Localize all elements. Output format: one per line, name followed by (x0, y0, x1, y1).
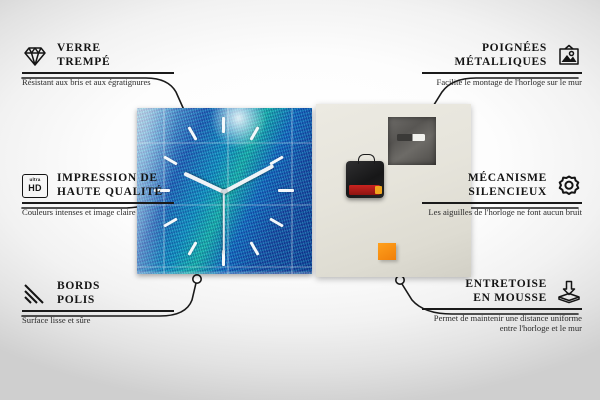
feature-verre-trempe: VERRE TREMPÉ Résistant aux bris et aux é… (22, 42, 174, 87)
clock-center-cap (222, 189, 227, 194)
feature-title: ENTRETOISE EN MOUSSE (465, 278, 547, 305)
mechanism-hook-icon (358, 154, 375, 164)
metal-hanger-plate (388, 117, 436, 165)
feature-entretoise-mousse: ENTRETOISE EN MOUSSE Permet de maintenir… (422, 278, 582, 333)
feature-divider (422, 308, 582, 310)
feature-title: IMPRESSION DE HAUTE QUALITÉ (57, 172, 163, 199)
feature-divider (22, 202, 174, 204)
hanger-slot (397, 134, 425, 141)
feature-title: BORDS POLIS (57, 280, 100, 307)
feature-subtitle: Résistant aux bris et aux égratignures (22, 77, 174, 87)
feature-title: POIGNÉES MÉTALLIQUES (455, 42, 547, 69)
feature-subtitle: Couleurs intenses et image claire (22, 207, 174, 217)
polished-edge-icon (22, 282, 48, 306)
connector-dot-bords (193, 275, 201, 283)
feature-subtitle: Permet de maintenir une distance uniform… (422, 313, 582, 334)
hour-tick (222, 117, 225, 133)
clock-mechanism (346, 161, 384, 198)
feature-divider (22, 72, 174, 74)
feature-subtitle: Les aiguilles de l'horloge ne font aucun… (422, 207, 582, 217)
feature-divider (22, 310, 174, 312)
foam-spacer (378, 243, 396, 260)
feature-subtitle: Surface lisse et sûre (22, 315, 174, 325)
feature-title: VERRE TREMPÉ (57, 42, 110, 69)
feature-bords-polis: BORDS POLIS Surface lisse et sûre (22, 280, 174, 325)
feature-divider (422, 72, 582, 74)
connector-dot-entretoise (396, 276, 404, 284)
hour-tick (278, 189, 294, 192)
gear-icon (556, 174, 582, 198)
clock-second-hand (223, 192, 225, 254)
feature-impression-hd: ultra HD IMPRESSION DE HAUTE QUALITÉ Cou… (22, 172, 174, 217)
hanging-picture-icon (556, 44, 582, 68)
ultra-hd-icon: ultra HD (22, 174, 48, 198)
feature-title: MÉCANISME SILENCIEUX (468, 172, 547, 199)
battery-terminal (375, 186, 382, 194)
feature-poignees-metalliques: POIGNÉES MÉTALLIQUES Facilite le montage… (422, 42, 582, 87)
foam-spacer-icon (556, 280, 582, 304)
infographic-canvas: VERRE TREMPÉ Résistant aux bris et aux é… (0, 0, 600, 400)
hd-icon-big-label: HD (28, 184, 42, 193)
feature-divider (422, 202, 582, 204)
diamond-icon (22, 44, 48, 68)
feature-subtitle: Facilite le montage de l'horloge sur le … (422, 77, 582, 87)
feature-mecanisme-silencieux: MÉCANISME SILENCIEUX Les aiguilles de l'… (422, 172, 582, 217)
battery (349, 185, 380, 195)
